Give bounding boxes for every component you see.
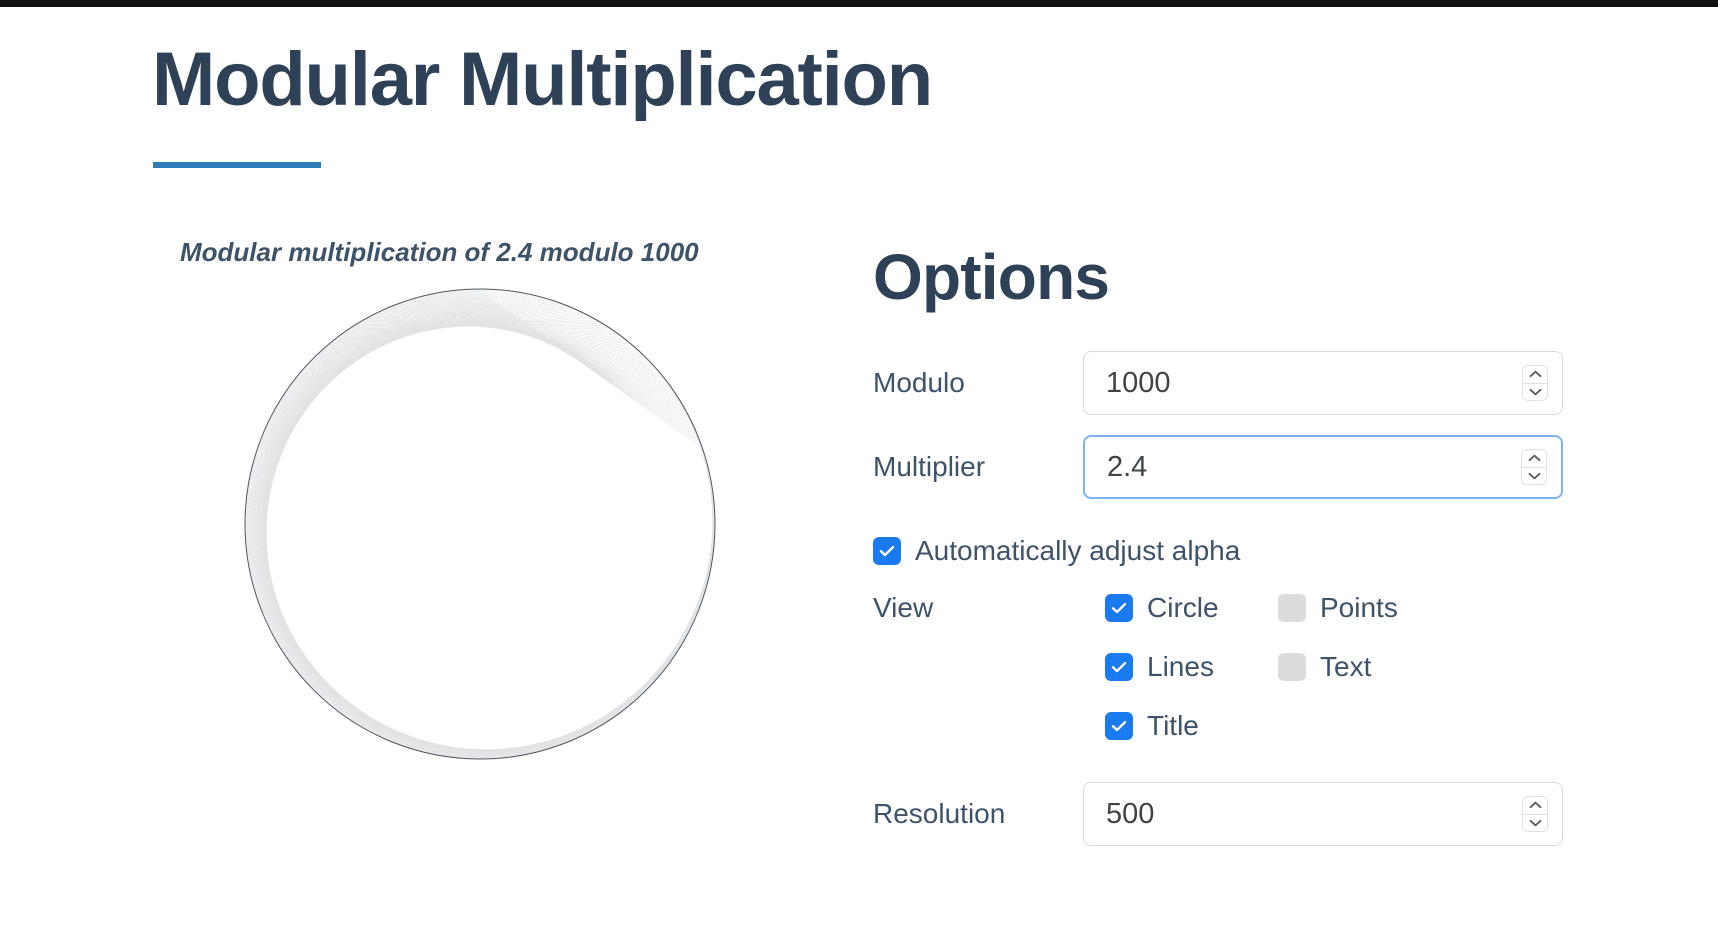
points-label: Points (1320, 592, 1398, 624)
resolution-value: 500 (1084, 800, 1154, 829)
chevron-down-icon[interactable] (1522, 468, 1546, 485)
page-title: Modular Multiplication (152, 42, 932, 118)
modulo-input[interactable]: 1000 (1083, 351, 1563, 415)
circle-checkbox[interactable] (1105, 594, 1133, 622)
auto-alpha-label: Automatically adjust alpha (915, 535, 1240, 567)
resolution-field-row: Resolution 500 (873, 782, 1573, 846)
lines-checkbox[interactable] (1105, 653, 1133, 681)
auto-alpha-checkbox[interactable] (873, 537, 901, 565)
points-checkbox[interactable] (1278, 594, 1306, 622)
title-checkbox[interactable] (1105, 712, 1133, 740)
figure-title: Modular multiplication of 2.4 modulo 100… (180, 237, 699, 268)
auto-alpha-row[interactable]: Automatically adjust alpha (873, 535, 1240, 567)
view-title-option[interactable]: Title (1105, 710, 1199, 742)
modulo-value: 1000 (1084, 369, 1171, 398)
page-root: Modular Multiplication Modular multiplic… (0, 7, 1718, 940)
multiplier-value: 2.4 (1085, 453, 1147, 482)
circle-label: Circle (1147, 592, 1219, 624)
resolution-input[interactable]: 500 (1083, 782, 1563, 846)
chevron-down-icon[interactable] (1523, 815, 1547, 832)
view-text-option[interactable]: Text (1278, 651, 1371, 683)
lines-label: Lines (1147, 651, 1214, 683)
options-heading: Options (873, 245, 1109, 309)
multiplier-spinner[interactable] (1521, 449, 1547, 485)
chevron-up-icon[interactable] (1523, 797, 1547, 815)
view-lines-option[interactable]: Lines (1105, 651, 1214, 683)
view-label: View (873, 592, 933, 624)
title-option-label: Title (1147, 710, 1199, 742)
view-points-option[interactable]: Points (1278, 592, 1398, 624)
top-bar (0, 0, 1718, 7)
text-label: Text (1320, 651, 1371, 683)
multiplier-label: Multiplier (873, 451, 1083, 483)
modular-multiplication-canvas[interactable] (220, 279, 740, 769)
title-accent-rule (153, 162, 321, 168)
multiplier-input[interactable]: 2.4 (1083, 435, 1563, 499)
visualization-figure: Modular multiplication of 2.4 modulo 100… (150, 217, 790, 777)
chevron-up-icon[interactable] (1522, 450, 1546, 468)
resolution-label: Resolution (873, 798, 1083, 830)
view-circle-option[interactable]: Circle (1105, 592, 1219, 624)
modulo-label: Modulo (873, 367, 1083, 399)
multiplier-field-row: Multiplier 2.4 (873, 435, 1573, 499)
modulo-field-row: Modulo 1000 (873, 351, 1573, 415)
chevron-up-icon[interactable] (1523, 366, 1547, 384)
options-panel: Options Modulo 1000 Multiplier 2.4 (873, 245, 1573, 925)
chevron-down-icon[interactable] (1523, 384, 1547, 401)
resolution-spinner[interactable] (1522, 796, 1548, 832)
modulo-spinner[interactable] (1522, 365, 1548, 401)
text-checkbox[interactable] (1278, 653, 1306, 681)
